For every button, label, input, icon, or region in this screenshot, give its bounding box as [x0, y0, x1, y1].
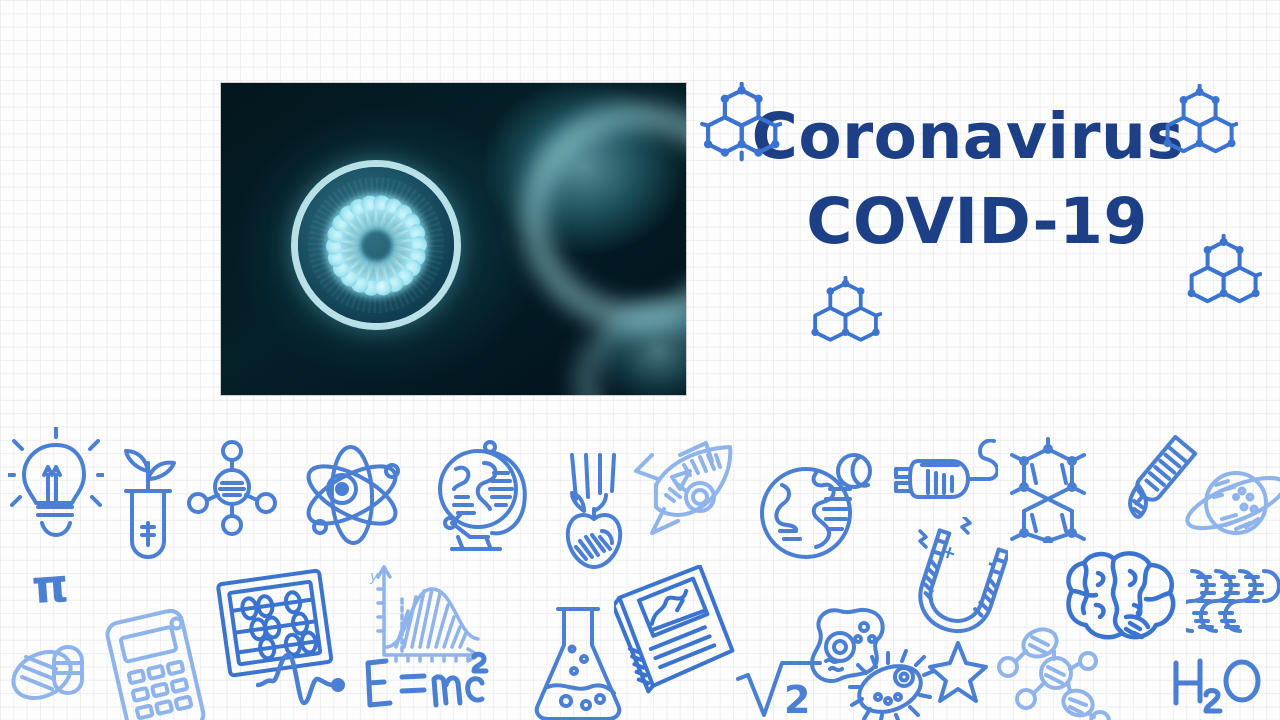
- star-icon: [926, 639, 990, 705]
- petri-dish-icon: [8, 619, 108, 703]
- saturn-planet-icon: [1180, 457, 1280, 553]
- slide-canvas: Coronavirus COVID-19: [0, 0, 1280, 720]
- power-plug-icon: [892, 439, 998, 519]
- test-tube-plant-icon: [114, 449, 186, 561]
- rocket-icon: [628, 433, 752, 543]
- lightbulb-icon: [8, 427, 104, 543]
- bacteria-icon: [846, 647, 936, 720]
- h2o-formula-icon: [1170, 655, 1270, 717]
- molecule-node-icon: [184, 439, 280, 539]
- molecule-icon-top-left: [698, 82, 782, 166]
- molecule-icon-top-right: [1158, 84, 1238, 164]
- moon-icon: [834, 451, 874, 491]
- hexagon-molecule-icon: [996, 435, 1100, 543]
- falling-apple-icon: [558, 453, 638, 573]
- molecule-chain-icon: [996, 621, 1114, 720]
- page-title-line-1: Coronavirus: [716, 105, 1220, 168]
- svg-text:+: +: [938, 540, 959, 565]
- dna-helix-icon: [1186, 557, 1280, 647]
- molecule-icon-bottom-right: [1182, 234, 1262, 314]
- ekg-heartbeat-icon: [256, 647, 376, 709]
- globe-stand-icon: [424, 439, 542, 559]
- page-title-line-2: COVID-19: [734, 190, 1220, 253]
- photo-main-virion: [276, 145, 476, 345]
- pi-symbol-label: π: [30, 558, 70, 614]
- coronavirus-photo: [221, 83, 686, 395]
- calculator-icon: [94, 605, 220, 720]
- atom-icon: [298, 441, 406, 549]
- book-chart-icon: [614, 565, 742, 705]
- emc2-formula-icon: [362, 651, 492, 715]
- science-doodle-band: π: [0, 415, 1280, 720]
- horseshoe-magnet-icon: + -: [912, 517, 1008, 639]
- svg-text:y: y: [369, 569, 379, 585]
- molecule-icon-bottom-left: [806, 276, 882, 352]
